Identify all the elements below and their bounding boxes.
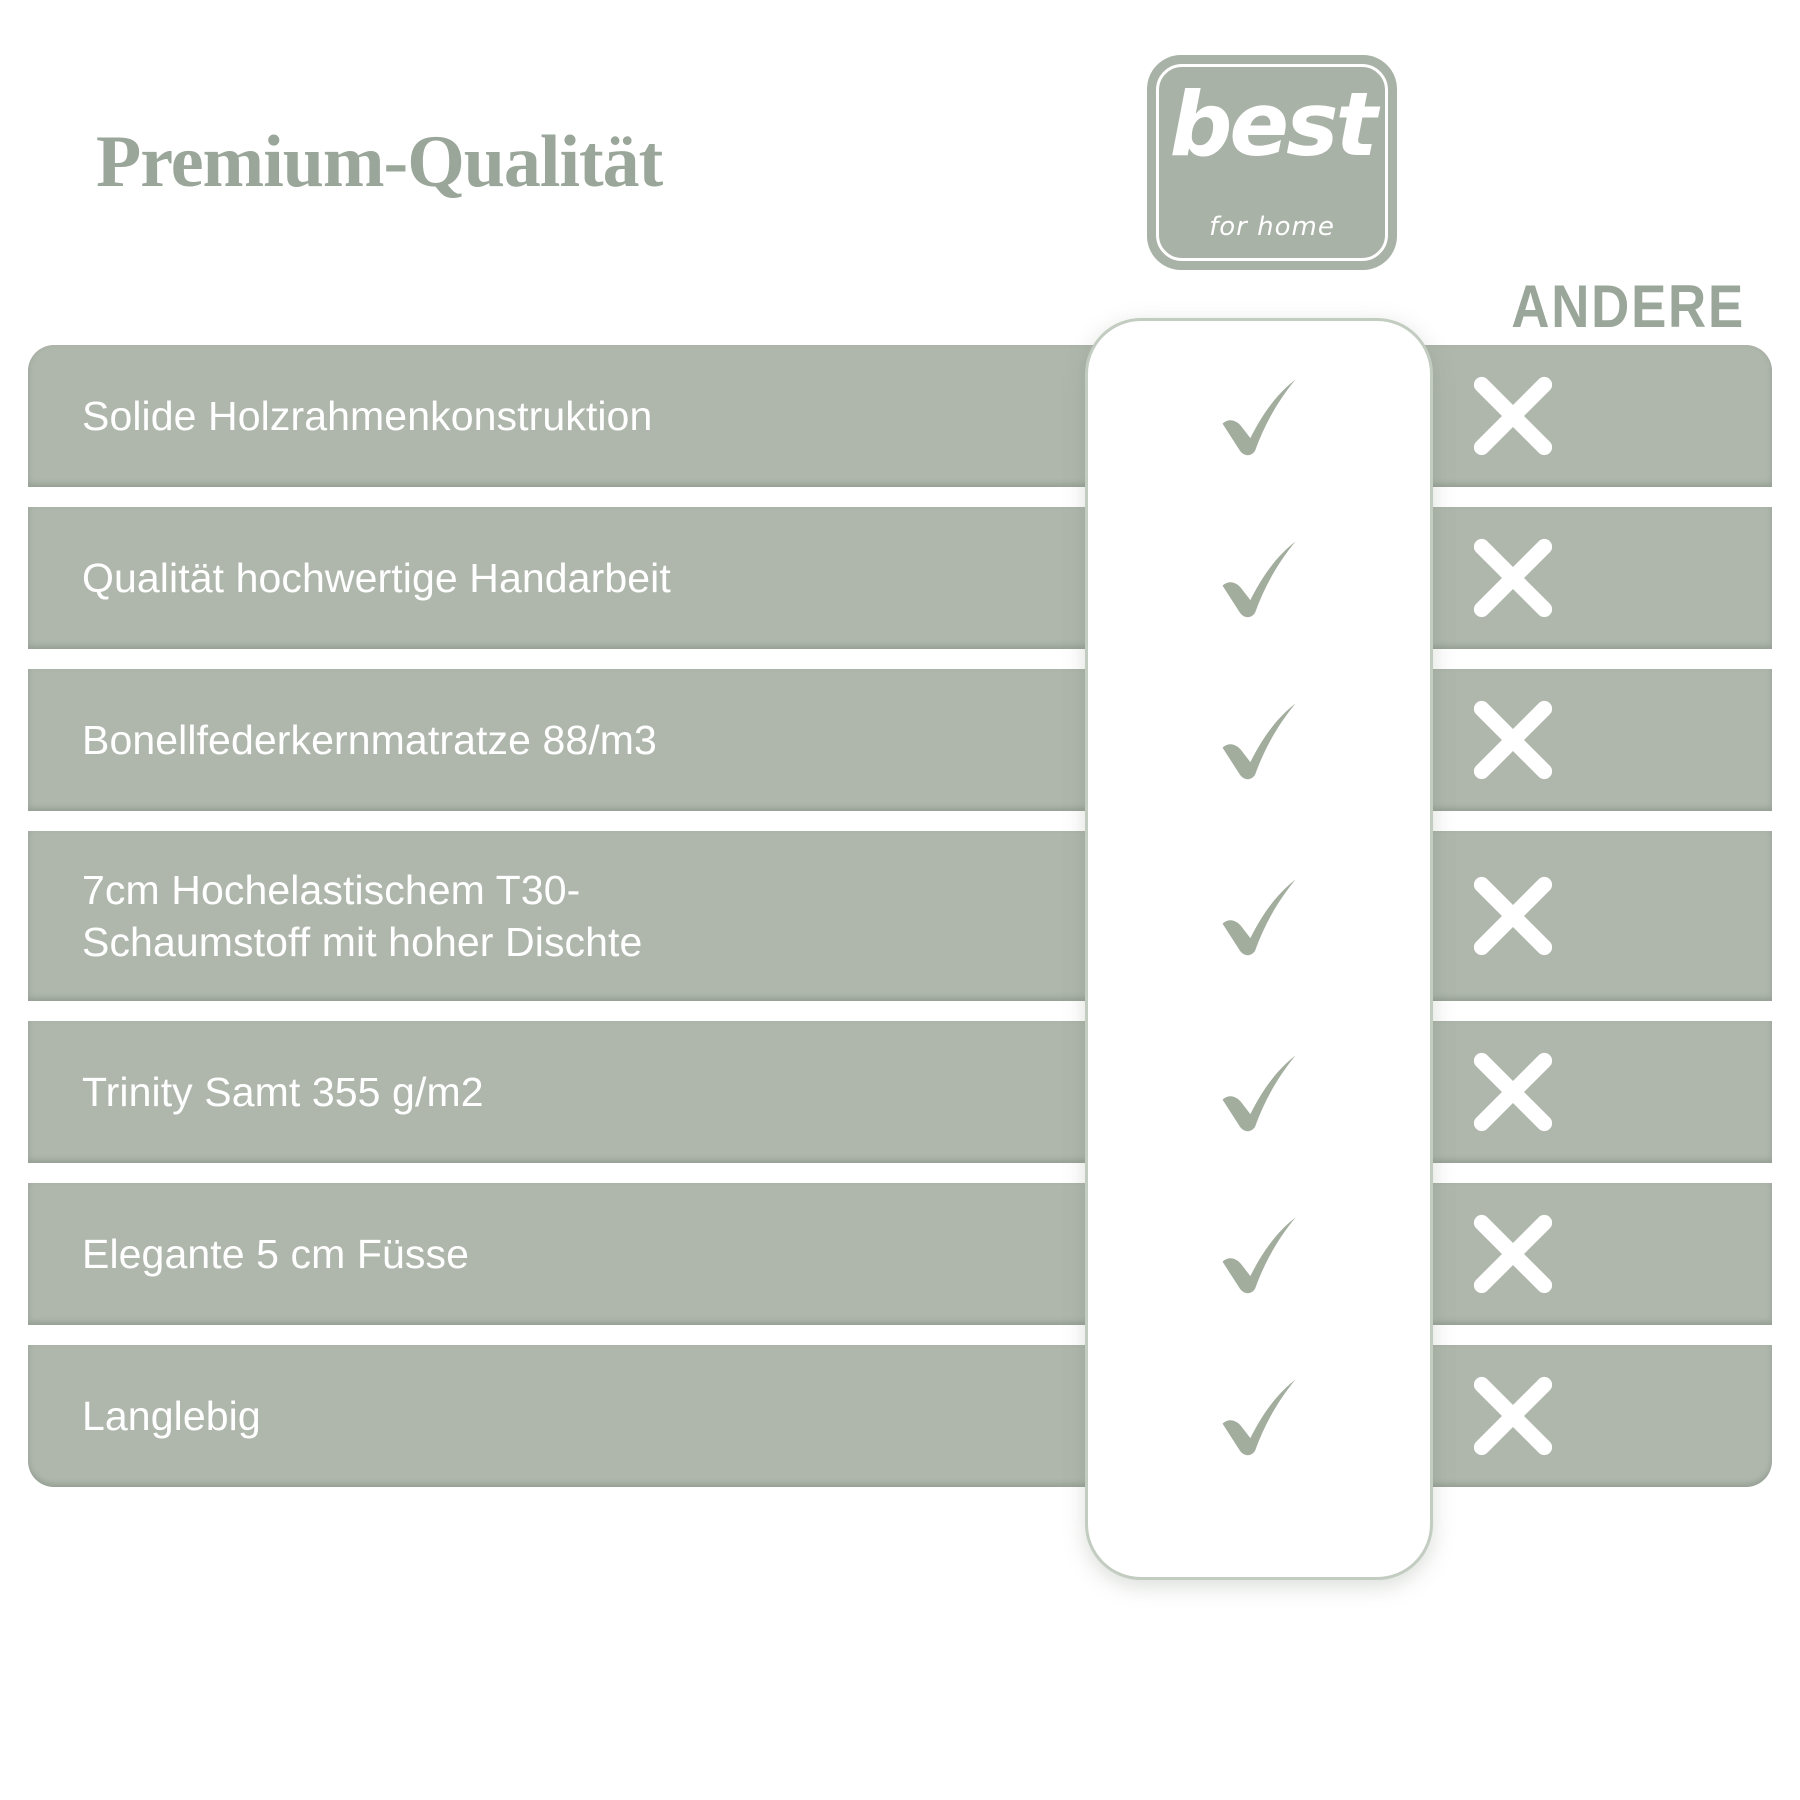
feature-label: Solide Holzrahmenkonstruktion bbox=[28, 390, 940, 442]
feature-label: Bonellfederkernmatratze 88/m3 bbox=[28, 714, 940, 766]
feature-label-line: Langlebig bbox=[82, 1390, 920, 1442]
table-row: 7cm Hochelastischem T30-Schaumstoff mit … bbox=[28, 831, 1772, 1001]
cross-icon bbox=[1467, 1046, 1559, 1138]
check-icon bbox=[1085, 831, 1433, 1001]
feature-label: 7cm Hochelastischem T30-Schaumstoff mit … bbox=[28, 864, 940, 969]
feature-label-line: 7cm Hochelastischem T30- bbox=[82, 864, 920, 916]
ours-check-column bbox=[1085, 345, 1433, 1487]
check-icon bbox=[1085, 1345, 1433, 1487]
cross-icon bbox=[1467, 532, 1559, 624]
table-row: Trinity Samt 355 g/m2 bbox=[28, 1021, 1772, 1163]
table-row: Elegante 5 cm Füsse bbox=[28, 1183, 1772, 1325]
feature-label: Elegante 5 cm Füsse bbox=[28, 1228, 940, 1280]
check-icon bbox=[1085, 345, 1433, 487]
brand-logo: best for home bbox=[1147, 55, 1397, 270]
feature-label-line: Elegante 5 cm Füsse bbox=[82, 1228, 920, 1280]
cross-icon bbox=[1467, 1370, 1559, 1462]
check-icon bbox=[1085, 507, 1433, 649]
table-row: Qualität hochwertige Handarbeit bbox=[28, 507, 1772, 649]
check-icon bbox=[1085, 1183, 1433, 1325]
check-icon bbox=[1085, 669, 1433, 811]
comparison-infographic: Premium-Qualität best for home ANDERE So… bbox=[0, 0, 1800, 1800]
feature-label: Qualität hochwertige Handarbeit bbox=[28, 552, 940, 604]
cross-icon bbox=[1467, 1208, 1559, 1300]
feature-label: Langlebig bbox=[28, 1390, 940, 1442]
table-row: Bonellfederkernmatratze 88/m3 bbox=[28, 669, 1772, 811]
feature-label: Trinity Samt 355 g/m2 bbox=[28, 1066, 940, 1118]
brand-tagline: for home bbox=[1147, 212, 1397, 242]
feature-label-line: Qualität hochwertige Handarbeit bbox=[82, 552, 920, 604]
page-title: Premium-Qualität bbox=[96, 120, 662, 205]
cross-icon bbox=[1467, 370, 1559, 462]
check-icon bbox=[1085, 1021, 1433, 1163]
feature-label-line: Schaumstoff mit hoher Dischte bbox=[82, 916, 920, 968]
table-row: Langlebig bbox=[28, 1345, 1772, 1487]
feature-label-line: Solide Holzrahmenkonstruktion bbox=[82, 390, 920, 442]
brand-name: best bbox=[1147, 81, 1397, 169]
feature-label-line: Bonellfederkernmatratze 88/m3 bbox=[82, 714, 920, 766]
others-column-header: ANDERE bbox=[1511, 272, 1722, 341]
comparison-table: Solide HolzrahmenkonstruktionQualität ho… bbox=[28, 345, 1772, 1487]
cross-icon bbox=[1467, 870, 1559, 962]
feature-label-line: Trinity Samt 355 g/m2 bbox=[82, 1066, 920, 1118]
table-row: Solide Holzrahmenkonstruktion bbox=[28, 345, 1772, 487]
cross-icon bbox=[1467, 694, 1559, 786]
